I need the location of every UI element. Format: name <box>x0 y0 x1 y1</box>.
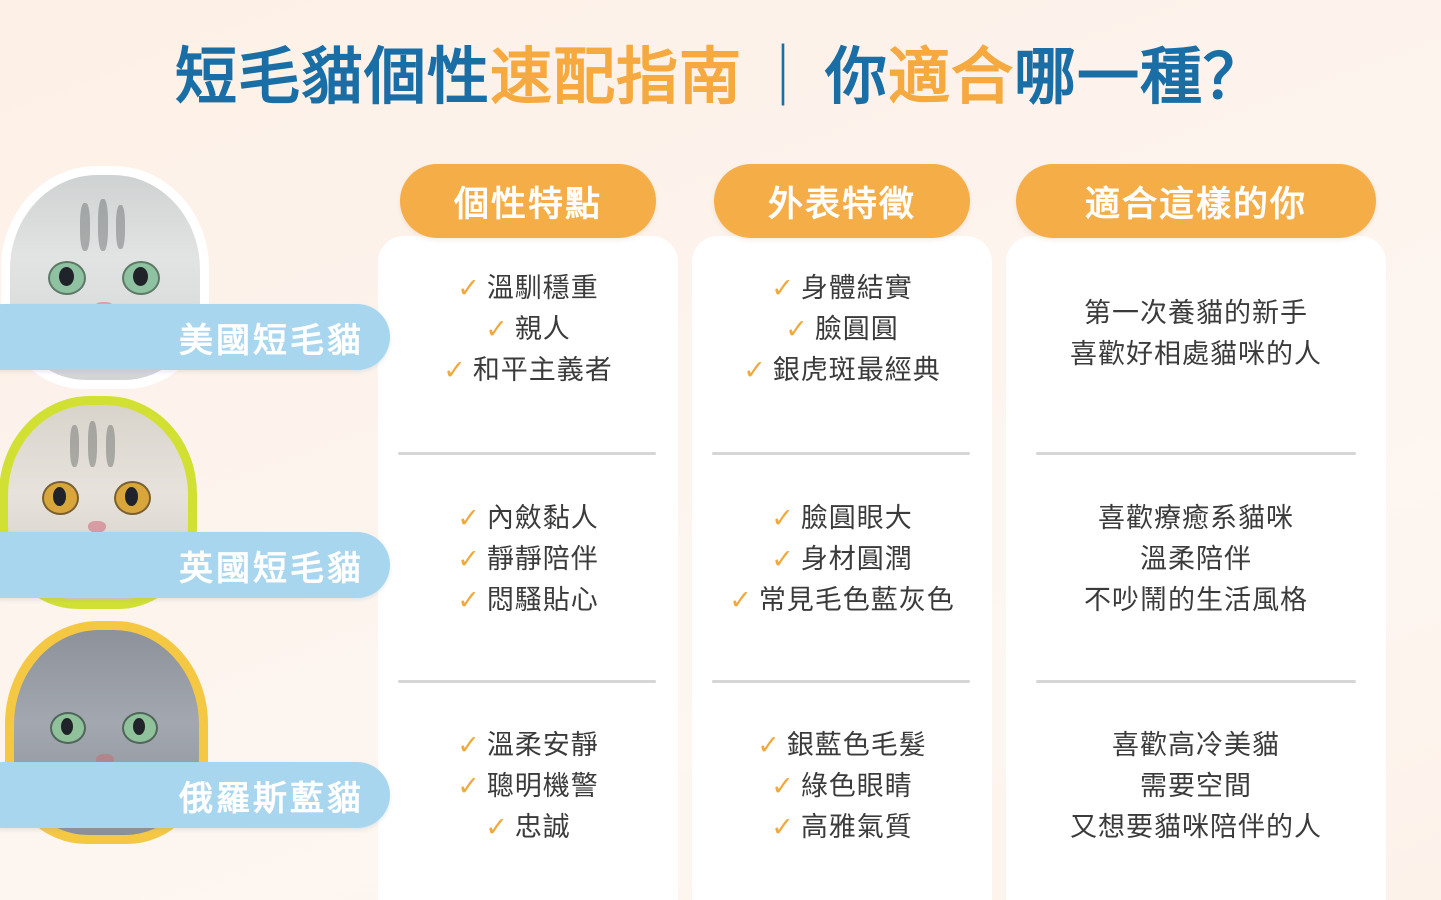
check-icon: ✓ <box>771 268 795 309</box>
list-item-label: 溫柔安靜 <box>487 730 599 760</box>
list-item-label: 和平主義者 <box>473 355 613 385</box>
list-item: ✓忠誠 <box>378 807 678 848</box>
list-item-label: 溫柔陪伴 <box>1140 544 1252 574</box>
list-item-label: 忠誠 <box>515 812 571 842</box>
list-item: 喜歡高冷美貓 <box>1006 725 1386 766</box>
list-item-label: 身體結實 <box>801 273 913 303</box>
list-item: ✓銀虎斑最經典 <box>692 350 992 391</box>
check-icon: ✓ <box>443 350 467 391</box>
title-part-4: 適合 <box>888 43 1014 112</box>
cell-personality-row-3: ✓溫柔安靜 ✓聰明機警 ✓忠誠 <box>378 725 678 848</box>
list-item: 喜歡好相處貓咪的人 <box>1006 334 1386 375</box>
list-item-label: 臉圓圓 <box>815 314 899 344</box>
list-item: 喜歡療癒系貓咪 <box>1006 498 1386 539</box>
list-item-label: 臉圓眼大 <box>801 503 913 533</box>
list-item: ✓銀藍色毛髮 <box>692 725 992 766</box>
list-item: 不吵鬧的生活風格 <box>1006 580 1386 621</box>
list-item-label: 第一次養貓的新手 <box>1084 298 1308 328</box>
list-item: ✓內斂黏人 <box>378 498 678 539</box>
column-header-suited-for: 適合這樣的你 <box>1016 164 1376 238</box>
list-item: ✓高雅氣質 <box>692 807 992 848</box>
column-header-label: 適合這樣的你 <box>1085 176 1307 227</box>
list-item: ✓身體結實 <box>692 268 992 309</box>
title-part-1: 短毛貓個性 <box>175 43 490 112</box>
check-icon: ✓ <box>485 309 509 350</box>
list-item: ✓和平主義者 <box>378 350 678 391</box>
list-item-label: 綠色眼睛 <box>801 771 913 801</box>
list-item-label: 又想要貓咪陪伴的人 <box>1070 812 1322 842</box>
check-icon: ✓ <box>771 807 795 848</box>
list-item: ✓常見毛色藍灰色 <box>692 580 992 621</box>
list-item-label: 不吵鬧的生活風格 <box>1084 585 1308 615</box>
list-item: ✓臉圓眼大 <box>692 498 992 539</box>
list-item-label: 內斂黏人 <box>487 503 599 533</box>
list-item-label: 高雅氣質 <box>801 812 913 842</box>
cell-suited-for-row-1: 第一次養貓的新手 喜歡好相處貓咪的人 <box>1006 293 1386 375</box>
cell-suited-for-row-2: 喜歡療癒系貓咪 溫柔陪伴 不吵鬧的生活風格 <box>1006 498 1386 621</box>
check-icon: ✓ <box>457 268 481 309</box>
list-item: ✓聰明機警 <box>378 766 678 807</box>
title-part-5: 哪一種？ <box>1014 43 1266 112</box>
breed-label-text: 美國短毛貓 <box>179 313 364 362</box>
row-divider <box>712 452 970 455</box>
row-divider <box>1036 680 1356 683</box>
list-item: ✓身材圓潤 <box>692 539 992 580</box>
check-icon: ✓ <box>457 498 481 539</box>
breed-label-russian-blue: 俄羅斯藍貓 <box>0 762 390 828</box>
cell-suited-for-row-3: 喜歡高冷美貓 需要空間 又想要貓咪陪伴的人 <box>1006 725 1386 848</box>
check-icon: ✓ <box>457 580 481 621</box>
cell-appearance-row-2: ✓臉圓眼大 ✓身材圓潤 ✓常見毛色藍灰色 <box>692 498 992 621</box>
cell-personality-row-2: ✓內斂黏人 ✓靜靜陪伴 ✓悶騷貼心 <box>378 498 678 621</box>
breed-label-british-shorthair: 英國短毛貓 <box>0 532 390 598</box>
list-item-label: 銀虎斑最經典 <box>773 355 941 385</box>
list-item-label: 悶騷貼心 <box>487 585 599 615</box>
check-icon: ✓ <box>771 498 795 539</box>
list-item: ✓靜靜陪伴 <box>378 539 678 580</box>
list-item: 又想要貓咪陪伴的人 <box>1006 807 1386 848</box>
breed-label-text: 俄羅斯藍貓 <box>179 771 364 820</box>
check-icon: ✓ <box>457 766 481 807</box>
list-item-label: 喜歡好相處貓咪的人 <box>1070 339 1322 369</box>
list-item-label: 常見毛色藍灰色 <box>759 585 955 615</box>
list-item-label: 喜歡療癒系貓咪 <box>1098 503 1294 533</box>
check-icon: ✓ <box>757 725 781 766</box>
cell-appearance-row-3: ✓銀藍色毛髮 ✓綠色眼睛 ✓高雅氣質 <box>692 725 992 848</box>
list-item: ✓溫柔安靜 <box>378 725 678 766</box>
infographic-canvas: 短毛貓個性速配指南｜你適合哪一種？ 個性特點 外表特徵 適合這樣的你 ✓溫馴穩重… <box>0 0 1441 900</box>
list-item: 需要空間 <box>1006 766 1386 807</box>
row-divider <box>398 680 656 683</box>
title-part-2: 速配指南 <box>490 43 742 112</box>
list-item-label: 身材圓潤 <box>801 544 913 574</box>
list-item-label: 銀藍色毛髮 <box>787 730 927 760</box>
check-icon: ✓ <box>771 766 795 807</box>
column-header-appearance: 外表特徵 <box>714 164 970 238</box>
list-item-label: 親人 <box>515 314 571 344</box>
row-divider <box>398 452 656 455</box>
list-item-label: 需要空間 <box>1140 771 1252 801</box>
check-icon: ✓ <box>485 807 509 848</box>
row-divider <box>712 680 970 683</box>
list-item: ✓親人 <box>378 309 678 350</box>
cell-personality-row-1: ✓溫馴穩重 ✓親人 ✓和平主義者 <box>378 268 678 391</box>
page-title: 短毛貓個性速配指南｜你適合哪一種？ <box>0 26 1441 116</box>
check-icon: ✓ <box>729 580 753 621</box>
cell-appearance-row-1: ✓身體結實 ✓臉圓圓 ✓銀虎斑最經典 <box>692 268 992 391</box>
list-item: ✓臉圓圓 <box>692 309 992 350</box>
list-item-label: 聰明機警 <box>487 771 599 801</box>
check-icon: ✓ <box>785 309 809 350</box>
column-header-personality: 個性特點 <box>400 164 656 238</box>
row-divider <box>1036 452 1356 455</box>
check-icon: ✓ <box>771 539 795 580</box>
list-item: 第一次養貓的新手 <box>1006 293 1386 334</box>
list-item: ✓悶騷貼心 <box>378 580 678 621</box>
list-item-label: 喜歡高冷美貓 <box>1112 730 1280 760</box>
breed-label-text: 英國短毛貓 <box>179 541 364 590</box>
check-icon: ✓ <box>743 350 767 391</box>
list-item: ✓溫馴穩重 <box>378 268 678 309</box>
column-header-label: 外表特徵 <box>768 176 916 227</box>
list-item: ✓綠色眼睛 <box>692 766 992 807</box>
check-icon: ✓ <box>457 725 481 766</box>
breed-label-american-shorthair: 美國短毛貓 <box>0 304 390 370</box>
list-item-label: 靜靜陪伴 <box>487 544 599 574</box>
title-separator: ｜ <box>742 43 825 112</box>
title-part-3: 你 <box>825 43 888 112</box>
list-item: 溫柔陪伴 <box>1006 539 1386 580</box>
column-header-label: 個性特點 <box>454 176 602 227</box>
check-icon: ✓ <box>457 539 481 580</box>
list-item-label: 溫馴穩重 <box>487 273 599 303</box>
